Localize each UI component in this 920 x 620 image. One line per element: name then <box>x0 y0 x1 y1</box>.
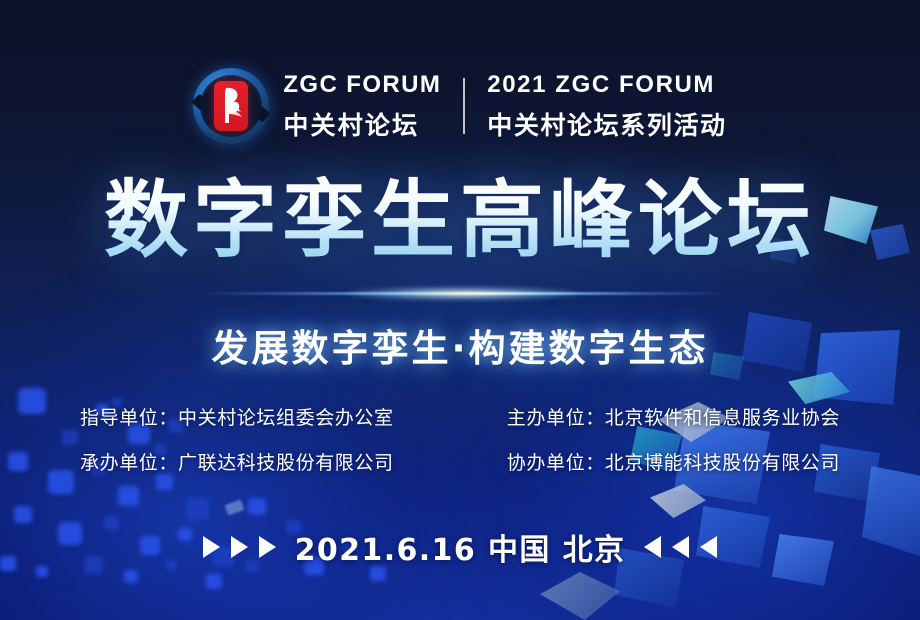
organizer-block: 指导单位：中关村论坛组委会办公室 主办单位：北京软件和信息服务业协会 承办单位：… <box>0 403 920 475</box>
logo-ring-notch-right <box>254 106 271 123</box>
guidance-unit: 指导单位：中关村论坛组委会办公室 <box>80 403 450 430</box>
host-unit: 主办单位：北京软件和信息服务业协会 <box>470 403 840 430</box>
logo-divider <box>463 78 465 134</box>
logo-flame-glyph-icon <box>217 85 245 127</box>
logo-right-cn: 中关村论坛系列活动 <box>487 106 726 142</box>
triangle-left-icon <box>700 536 717 558</box>
organizing-unit: 承办单位：广联达科技股份有限公司 <box>80 448 450 475</box>
logo-text-left: ZGC FORUM 中关村论坛 <box>283 75 441 137</box>
logo-left-en: ZGC FORUM <box>283 71 441 99</box>
zgc-forum-emblem-icon <box>193 68 269 144</box>
organizer-row: 承办单位：广联达科技股份有限公司 协办单位：北京博能科技股份有限公司 <box>80 448 840 475</box>
page-title: 数字孪生高峰论坛 <box>0 176 920 265</box>
logo-text-right: 2021 ZGC FORUM 中关村论坛系列活动 <box>487 75 726 137</box>
triangle-left-icon <box>672 536 689 558</box>
logo-ring-notch-left <box>192 94 209 111</box>
logo-row: ZGC FORUM 中关村论坛 2021 ZGC FORUM 中关村论坛系列活动 <box>0 68 920 144</box>
co-host-unit: 协办单位：北京博能科技股份有限公司 <box>470 448 840 475</box>
logo-red-badge <box>214 81 248 131</box>
logo-left-cn: 中关村论坛 <box>283 106 441 142</box>
triangle-right-icon <box>259 536 276 558</box>
page-subtitle: 发展数字孪生·构建数字生态 <box>0 318 920 372</box>
logo-right-en: 2021 ZGC FORUM <box>487 71 726 99</box>
triangle-left-icon <box>644 536 661 558</box>
organizer-row: 指导单位：中关村论坛组委会办公室 主办单位：北京软件和信息服务业协会 <box>80 403 840 430</box>
triangle-right-icon <box>203 536 220 558</box>
event-date-location: 2021.6.16 中国 北京 <box>295 525 626 569</box>
glow-divider <box>198 292 726 295</box>
event-poster: ZGC FORUM 中关村论坛 2021 ZGC FORUM 中关村论坛系列活动… <box>0 0 920 620</box>
date-location-row: 2021.6.16 中国 北京 <box>0 525 920 569</box>
triangle-right-icon <box>231 536 248 558</box>
